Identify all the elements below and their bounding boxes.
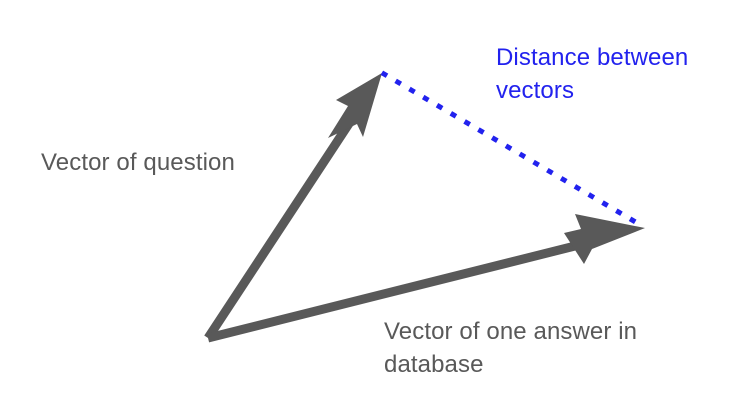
label-vector-of-question: Vector of question — [41, 146, 235, 179]
vector-of-question-arrowhead — [328, 73, 382, 138]
label-vector-of-answer: Vector of one answer in database — [384, 315, 684, 381]
diagram-canvas: Vector of question Vector of one answer … — [0, 0, 743, 408]
label-distance-between-vectors: Distance between vectors — [496, 41, 728, 107]
